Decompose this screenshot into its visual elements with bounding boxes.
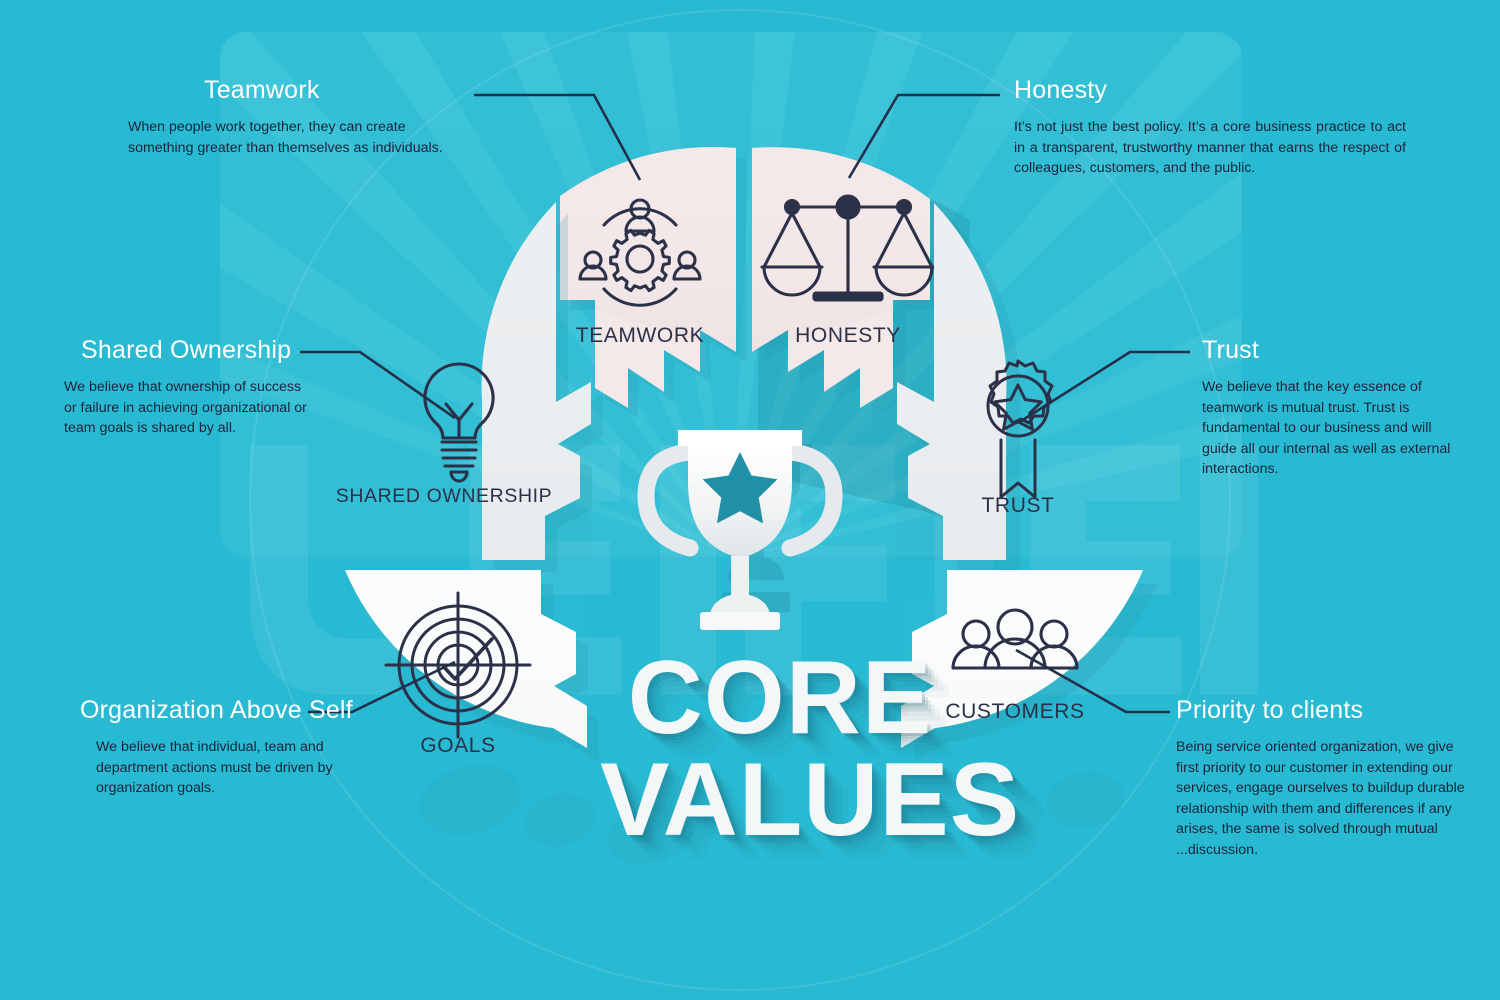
callout-body-organization-above-self: We believe that individual, team and dep… <box>96 737 356 799</box>
infographic-canvas: TEAMWORK <box>0 0 1500 1000</box>
callout-shared-ownership: Shared Ownership We believe that ownersh… <box>64 338 364 439</box>
callout-teamwork: Teamwork When people work together, they… <box>128 78 488 158</box>
callout-honesty: Honesty It’s not just the best policy. I… <box>1014 78 1414 179</box>
segment-label-shared-ownership: SHARED OWNERSHIP <box>336 485 553 507</box>
segment-label-honesty: HONESTY <box>795 324 901 347</box>
callout-priority-to-clients: Priority to clients Being service orient… <box>1176 698 1476 861</box>
segment-label-trust: TRUST <box>982 494 1055 517</box>
segment-label-customers: CUSTOMERS <box>945 700 1084 723</box>
callout-title-teamwork: Teamwork <box>204 78 488 103</box>
callout-title-honesty: Honesty <box>1014 78 1414 103</box>
callout-body-priority-to-clients: Being service oriented organization, we … <box>1176 737 1471 861</box>
callout-body-teamwork: When people work together, they can crea… <box>128 117 468 158</box>
connector-honesty <box>849 95 1000 178</box>
trophy-icon <box>646 430 834 630</box>
callout-body-honesty: It’s not just the best policy. It’s a co… <box>1014 117 1406 179</box>
segment-label-teamwork: TEAMWORK <box>576 324 704 347</box>
segment-shared-ownership[interactable]: SHARED OWNERSHIP <box>336 202 603 572</box>
callout-title-priority-to-clients: Priority to clients <box>1176 698 1476 723</box>
callout-title-shared-ownership: Shared Ownership <box>81 338 364 363</box>
callout-trust: Trust We believe that the key essence of… <box>1202 338 1462 480</box>
callout-organization-above-self: Organization Above Self We believe that … <box>80 698 410 799</box>
callout-title-trust: Trust <box>1202 338 1462 363</box>
callout-title-organization-above-self: Organization Above Self <box>80 698 410 723</box>
callout-body-trust: We believe that the key essence of teamw… <box>1202 377 1452 480</box>
segment-customers[interactable]: CUSTOMERS <box>901 570 1157 762</box>
callout-body-shared-ownership: We believe that ownership of success or … <box>64 377 314 439</box>
